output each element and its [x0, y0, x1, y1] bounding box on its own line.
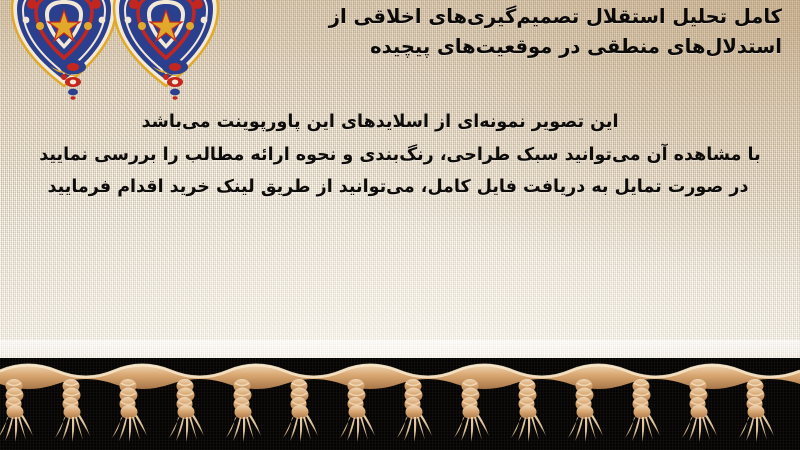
persian-pendant-icon-right: [157, 58, 193, 100]
tassel-fringe: [0, 350, 800, 450]
slide-body: این تصویر نمونه‌ای از اسلایدهای این پاور…: [30, 112, 770, 210]
body-line-3: در صورت تمایل به دریافت فایل کامل، می‌تو…: [30, 177, 770, 197]
body-line-1: این تصویر نمونه‌ای از اسلایدهای این پاور…: [30, 112, 770, 132]
slide-title: کامل تحلیل استقلال تصمیم‌گیری‌های اخلاقی…: [207, 2, 782, 61]
slide-canvas: کامل تحلیل استقلال تصمیم‌گیری‌های اخلاقی…: [0, 0, 800, 450]
body-line-2: با مشاهده آن می‌توانید سبک طراحی، رنگ‌بن…: [30, 145, 770, 165]
persian-pendant-icon-left: [55, 58, 91, 100]
